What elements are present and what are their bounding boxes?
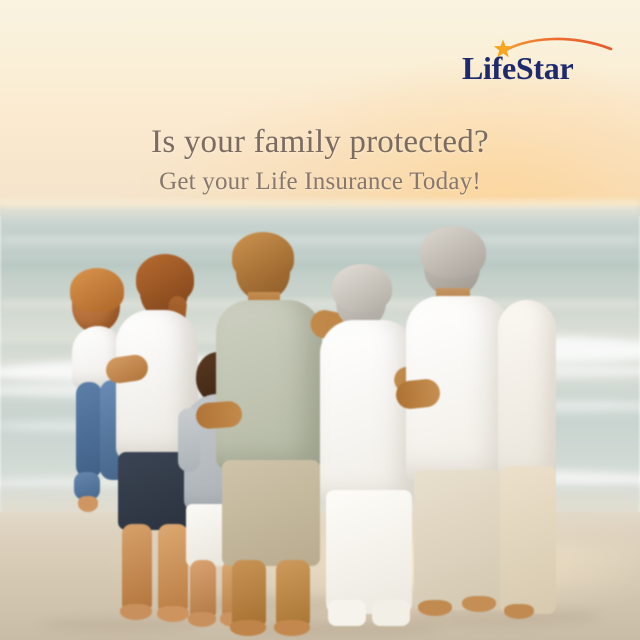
family-group	[0, 0, 640, 640]
life-insurance-ad-banner: Is your family protected? Get your Life …	[0, 0, 640, 640]
subheadline: Get your Life Insurance Today!	[0, 168, 640, 196]
page-title: Is your family protected?	[0, 124, 640, 161]
lifestar-logo[interactable]: LifeStar	[462, 34, 622, 92]
lifestar-wordmark: LifeStar	[462, 52, 622, 84]
